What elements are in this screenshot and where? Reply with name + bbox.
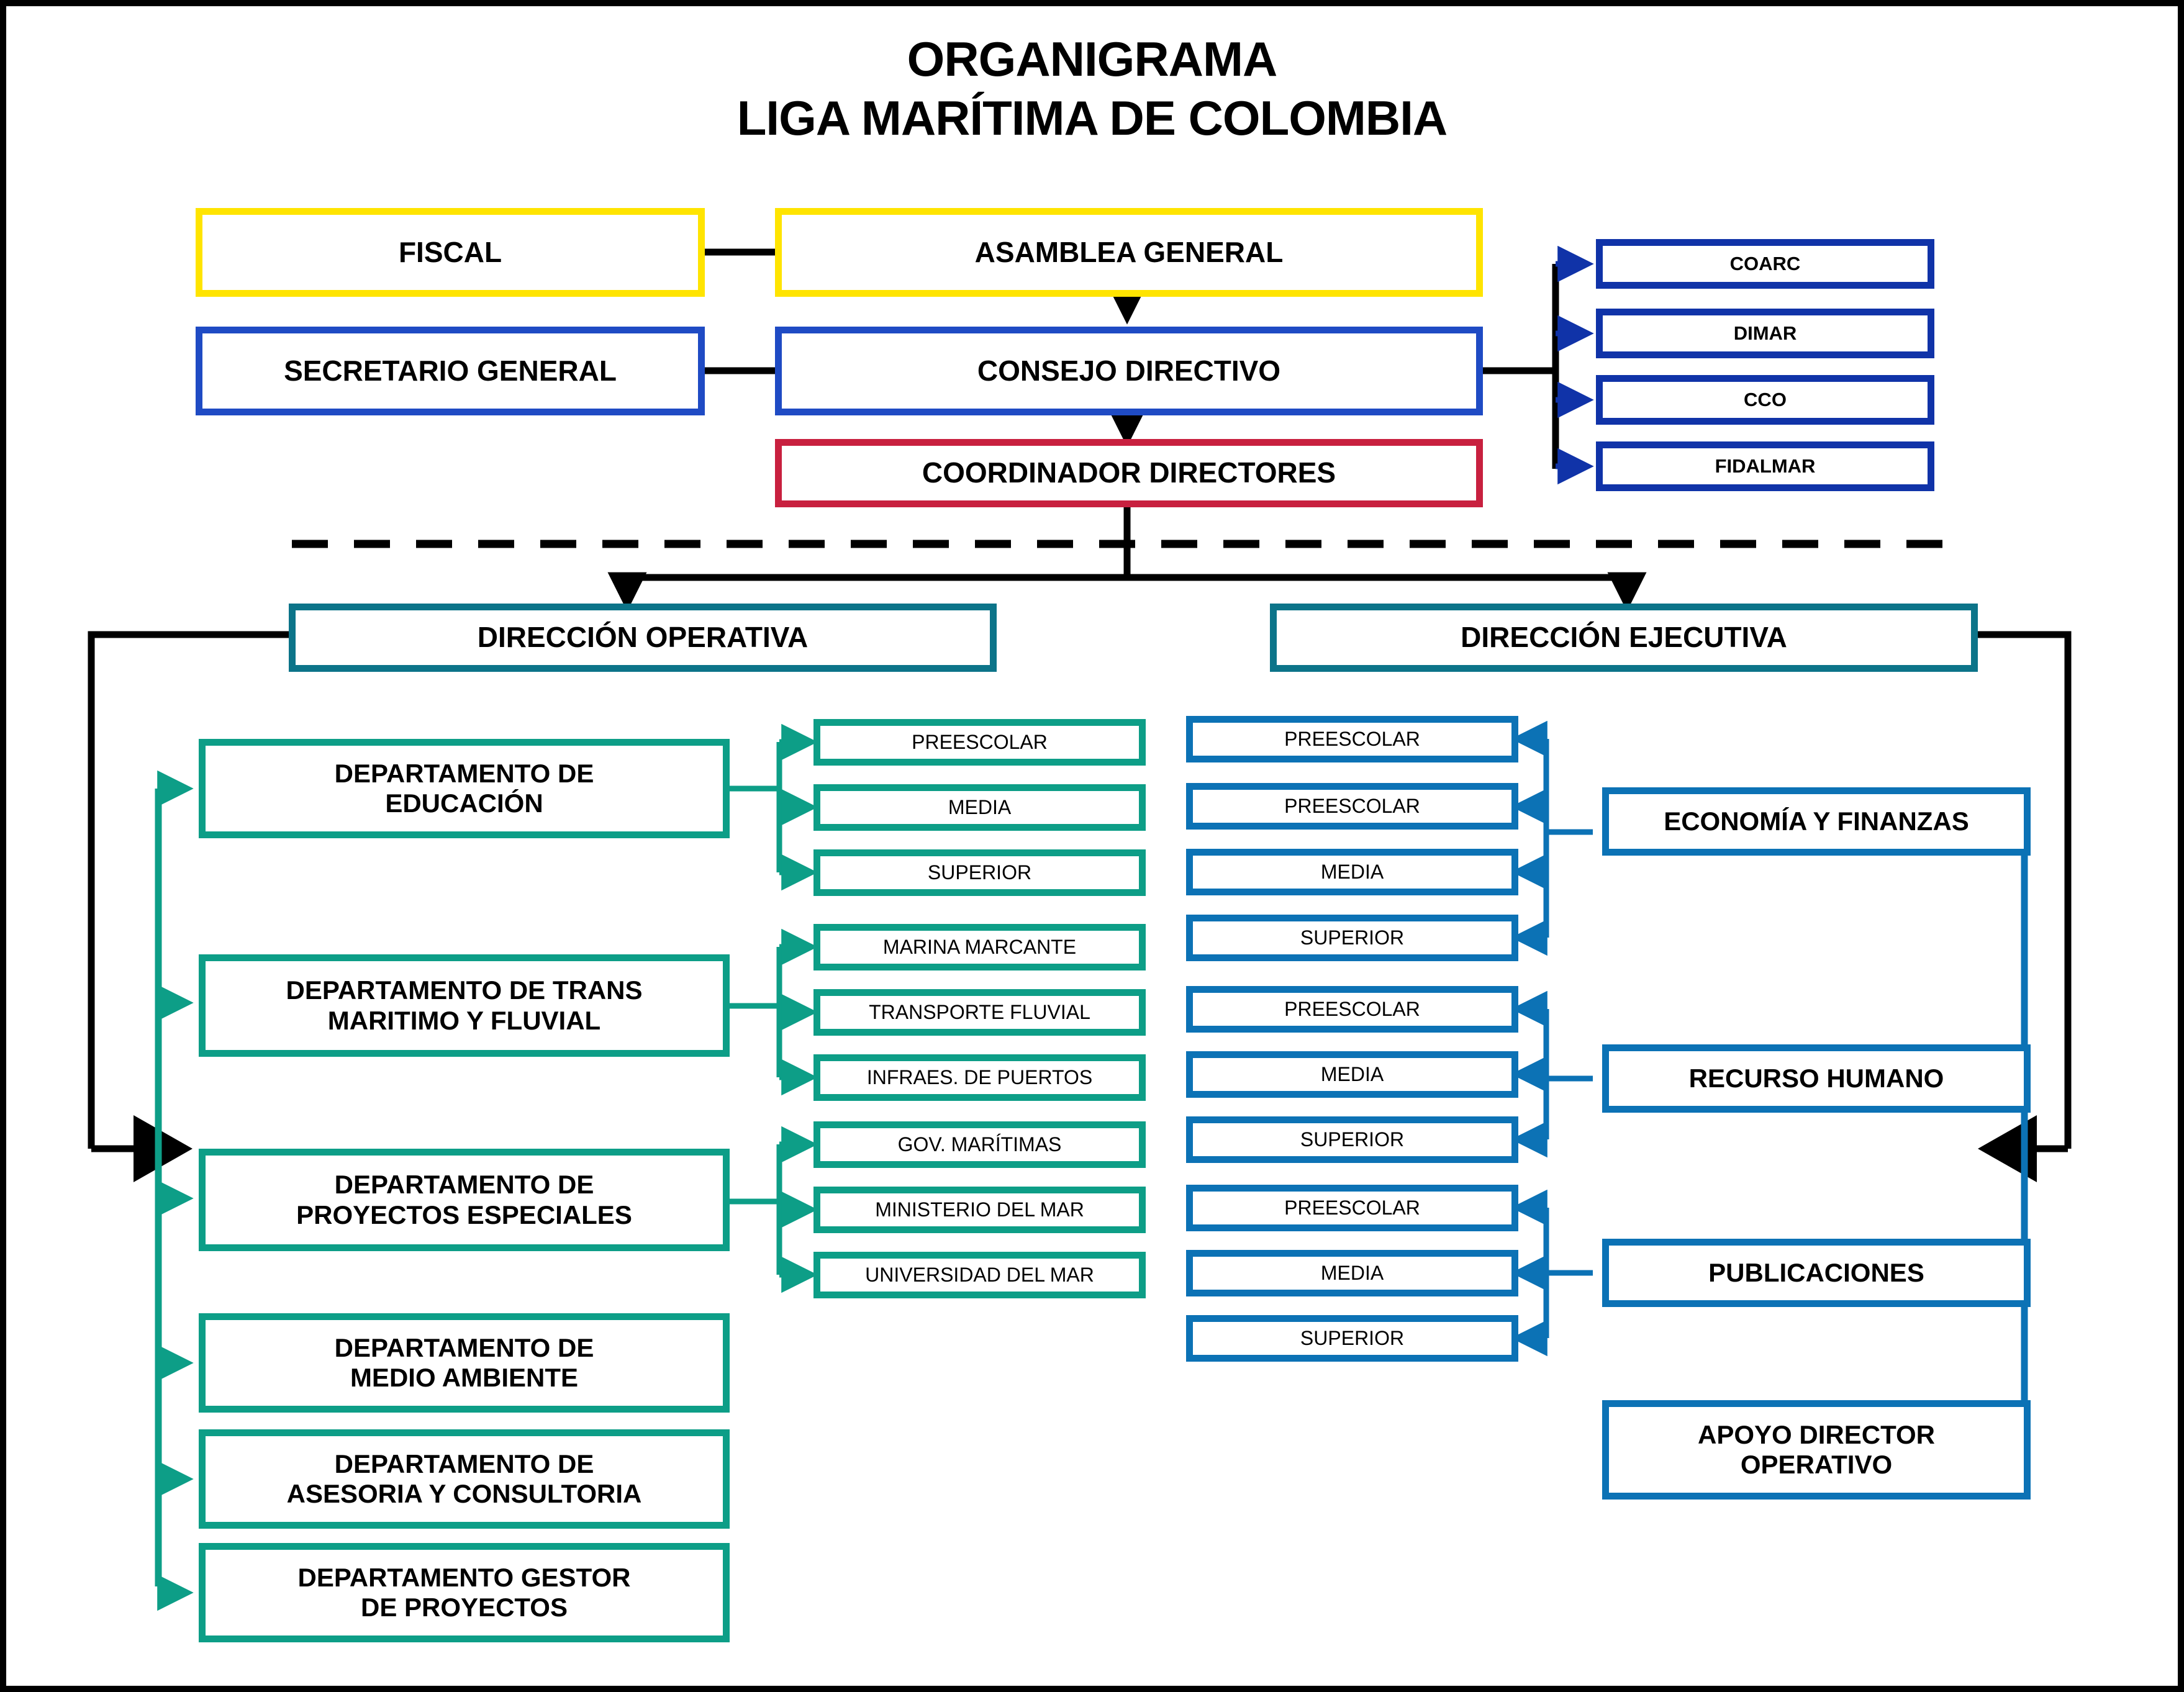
- node-apoyo-director-operativo-label: APOYO DIRECTOR OPERATIVO: [1614, 1420, 2019, 1480]
- node-departamento-gestor-proyectos-label: DEPARTAMENTO GESTOR DE PROYECTOS: [211, 1563, 718, 1623]
- node-publicaciones-sub-superior[interactable]: SUPERIOR: [1186, 1315, 1518, 1362]
- node-asamblea-general[interactable]: ASAMBLEA GENERAL: [775, 208, 1483, 297]
- node-departamento-asesoria-consultoria-label: DEPARTAMENTO DE ASESORIA Y CONSULTORIA: [211, 1449, 718, 1509]
- node-advisor-fidalmar-label: FIDALMAR: [1608, 456, 1923, 477]
- node-recurso-sub-media[interactable]: MEDIA: [1186, 1051, 1518, 1098]
- node-economia-sub-superior[interactable]: SUPERIOR: [1186, 915, 1518, 961]
- node-educacion-sub-preescolar-label: PREESCOLAR: [825, 731, 1134, 753]
- node-publicaciones-sub-media[interactable]: MEDIA: [1186, 1250, 1518, 1296]
- node-consejo-directivo-label: CONSEJO DIRECTIVO: [787, 355, 1471, 387]
- node-advisor-cco[interactable]: CCO: [1596, 375, 1934, 425]
- node-advisor-dimar-label: DIMAR: [1608, 323, 1923, 344]
- node-direccion-ejecutiva[interactable]: DIRECCIÓN EJECUTIVA: [1270, 604, 1978, 672]
- node-proyectos-sub-universidad-mar-label: UNIVERSIDAD DEL MAR: [825, 1264, 1134, 1286]
- node-educacion-sub-preescolar[interactable]: PREESCOLAR: [813, 719, 1146, 766]
- node-transporte-sub-marina-label: MARINA MARCANTE: [825, 936, 1134, 958]
- node-proyectos-sub-ministerio-mar-label: MINISTERIO DEL MAR: [825, 1199, 1134, 1221]
- node-proyectos-sub-gov-maritimas-label: GOV. MARÍTIMAS: [825, 1134, 1134, 1156]
- node-fiscal[interactable]: FISCAL: [196, 208, 705, 297]
- node-transporte-sub-puertos[interactable]: INFRAES. DE PUERTOS: [813, 1054, 1146, 1101]
- node-advisor-coarc[interactable]: COARC: [1596, 239, 1934, 289]
- node-publicaciones-label: PUBLICACIONES: [1614, 1258, 2019, 1288]
- node-departamento-asesoria-consultoria[interactable]: DEPARTAMENTO DE ASESORIA Y CONSULTORIA: [199, 1429, 730, 1529]
- node-coordinador-directores-label: COORDINADOR DIRECTORES: [787, 457, 1471, 489]
- node-economia-y-finanzas-label: ECONOMÍA Y FINANZAS: [1614, 807, 2019, 836]
- node-recurso-sub-preescolar[interactable]: PREESCOLAR: [1186, 986, 1518, 1033]
- node-coordinador-directores[interactable]: COORDINADOR DIRECTORES: [775, 439, 1483, 507]
- node-departamento-medio-ambiente[interactable]: DEPARTAMENTO DE MEDIO AMBIENTE: [199, 1313, 730, 1413]
- node-economia-sub-preescolar-1[interactable]: PREESCOLAR: [1186, 716, 1518, 762]
- node-departamento-medio-ambiente-label: DEPARTAMENTO DE MEDIO AMBIENTE: [211, 1333, 718, 1393]
- node-departamento-educacion-label: DEPARTAMENTO DE EDUCACIÓN: [211, 759, 718, 819]
- node-economia-sub-preescolar-2[interactable]: PREESCOLAR: [1186, 783, 1518, 830]
- node-recurso-sub-superior[interactable]: SUPERIOR: [1186, 1116, 1518, 1163]
- node-recurso-humano-label: RECURSO HUMANO: [1614, 1064, 2019, 1093]
- node-educacion-sub-superior-label: SUPERIOR: [825, 862, 1134, 884]
- node-educacion-sub-media[interactable]: MEDIA: [813, 784, 1146, 831]
- node-departamento-proyectos-especiales-label: DEPARTAMENTO DE PROYECTOS ESPECIALES: [211, 1170, 718, 1230]
- node-asamblea-general-label: ASAMBLEA GENERAL: [787, 237, 1471, 269]
- node-proyectos-sub-gov-maritimas[interactable]: GOV. MARÍTIMAS: [813, 1121, 1146, 1168]
- node-consejo-directivo[interactable]: CONSEJO DIRECTIVO: [775, 327, 1483, 415]
- node-recurso-sub-superior-label: SUPERIOR: [1198, 1129, 1507, 1151]
- node-economia-sub-media[interactable]: MEDIA: [1186, 849, 1518, 895]
- node-recurso-humano[interactable]: RECURSO HUMANO: [1602, 1044, 2031, 1113]
- node-transporte-sub-fluvial[interactable]: TRANSPORTE FLUVIAL: [813, 989, 1146, 1036]
- node-departamento-transporte-label: DEPARTAMENTO DE TRANS MARITIMO Y FLUVIAL: [211, 975, 718, 1036]
- node-publicaciones-sub-preescolar[interactable]: PREESCOLAR: [1186, 1185, 1518, 1231]
- node-publicaciones[interactable]: PUBLICACIONES: [1602, 1239, 2031, 1307]
- node-economia-sub-media-label: MEDIA: [1198, 861, 1507, 883]
- node-advisor-fidalmar[interactable]: FIDALMAR: [1596, 441, 1934, 491]
- node-economia-y-finanzas[interactable]: ECONOMÍA Y FINANZAS: [1602, 787, 2031, 856]
- node-educacion-sub-superior[interactable]: SUPERIOR: [813, 849, 1146, 896]
- node-advisor-cco-label: CCO: [1608, 389, 1923, 410]
- node-secretario-general-label: SECRETARIO GENERAL: [207, 355, 693, 387]
- node-departamento-educacion[interactable]: DEPARTAMENTO DE EDUCACIÓN: [199, 739, 730, 838]
- node-transporte-sub-marina[interactable]: MARINA MARCANTE: [813, 924, 1146, 970]
- node-advisor-coarc-label: COARC: [1608, 253, 1923, 274]
- node-fiscal-label: FISCAL: [207, 237, 693, 269]
- node-economia-sub-preescolar-1-label: PREESCOLAR: [1198, 728, 1507, 750]
- node-transporte-sub-fluvial-label: TRANSPORTE FLUVIAL: [825, 1002, 1134, 1023]
- node-apoyo-director-operativo[interactable]: APOYO DIRECTOR OPERATIVO: [1602, 1400, 2031, 1500]
- organigrama-canvas: ORGANIGRAMA LIGA MARÍTIMA DE COLOMBIA FI…: [0, 0, 2184, 1692]
- node-proyectos-sub-universidad-mar[interactable]: UNIVERSIDAD DEL MAR: [813, 1252, 1146, 1298]
- node-departamento-proyectos-especiales[interactable]: DEPARTAMENTO DE PROYECTOS ESPECIALES: [199, 1149, 730, 1251]
- node-publicaciones-sub-media-label: MEDIA: [1198, 1262, 1507, 1284]
- node-departamento-gestor-proyectos[interactable]: DEPARTAMENTO GESTOR DE PROYECTOS: [199, 1543, 730, 1642]
- node-departamento-transporte[interactable]: DEPARTAMENTO DE TRANS MARITIMO Y FLUVIAL: [199, 954, 730, 1057]
- node-direccion-operativa-label: DIRECCIÓN OPERATIVA: [301, 622, 985, 654]
- node-educacion-sub-media-label: MEDIA: [825, 797, 1134, 818]
- node-recurso-sub-preescolar-label: PREESCOLAR: [1198, 998, 1507, 1020]
- node-recurso-sub-media-label: MEDIA: [1198, 1064, 1507, 1085]
- node-transporte-sub-puertos-label: INFRAES. DE PUERTOS: [825, 1067, 1134, 1088]
- node-direccion-operativa[interactable]: DIRECCIÓN OPERATIVA: [289, 604, 997, 672]
- node-advisor-dimar[interactable]: DIMAR: [1596, 309, 1934, 358]
- node-secretario-general[interactable]: SECRETARIO GENERAL: [196, 327, 705, 415]
- page-title: ORGANIGRAMA LIGA MARÍTIMA DE COLOMBIA: [6, 30, 2178, 148]
- node-publicaciones-sub-preescolar-label: PREESCOLAR: [1198, 1197, 1507, 1219]
- node-economia-sub-superior-label: SUPERIOR: [1198, 927, 1507, 949]
- node-publicaciones-sub-superior-label: SUPERIOR: [1198, 1328, 1507, 1349]
- node-proyectos-sub-ministerio-mar[interactable]: MINISTERIO DEL MAR: [813, 1187, 1146, 1233]
- node-economia-sub-preescolar-2-label: PREESCOLAR: [1198, 795, 1507, 817]
- node-direccion-ejecutiva-label: DIRECCIÓN EJECUTIVA: [1282, 622, 1966, 654]
